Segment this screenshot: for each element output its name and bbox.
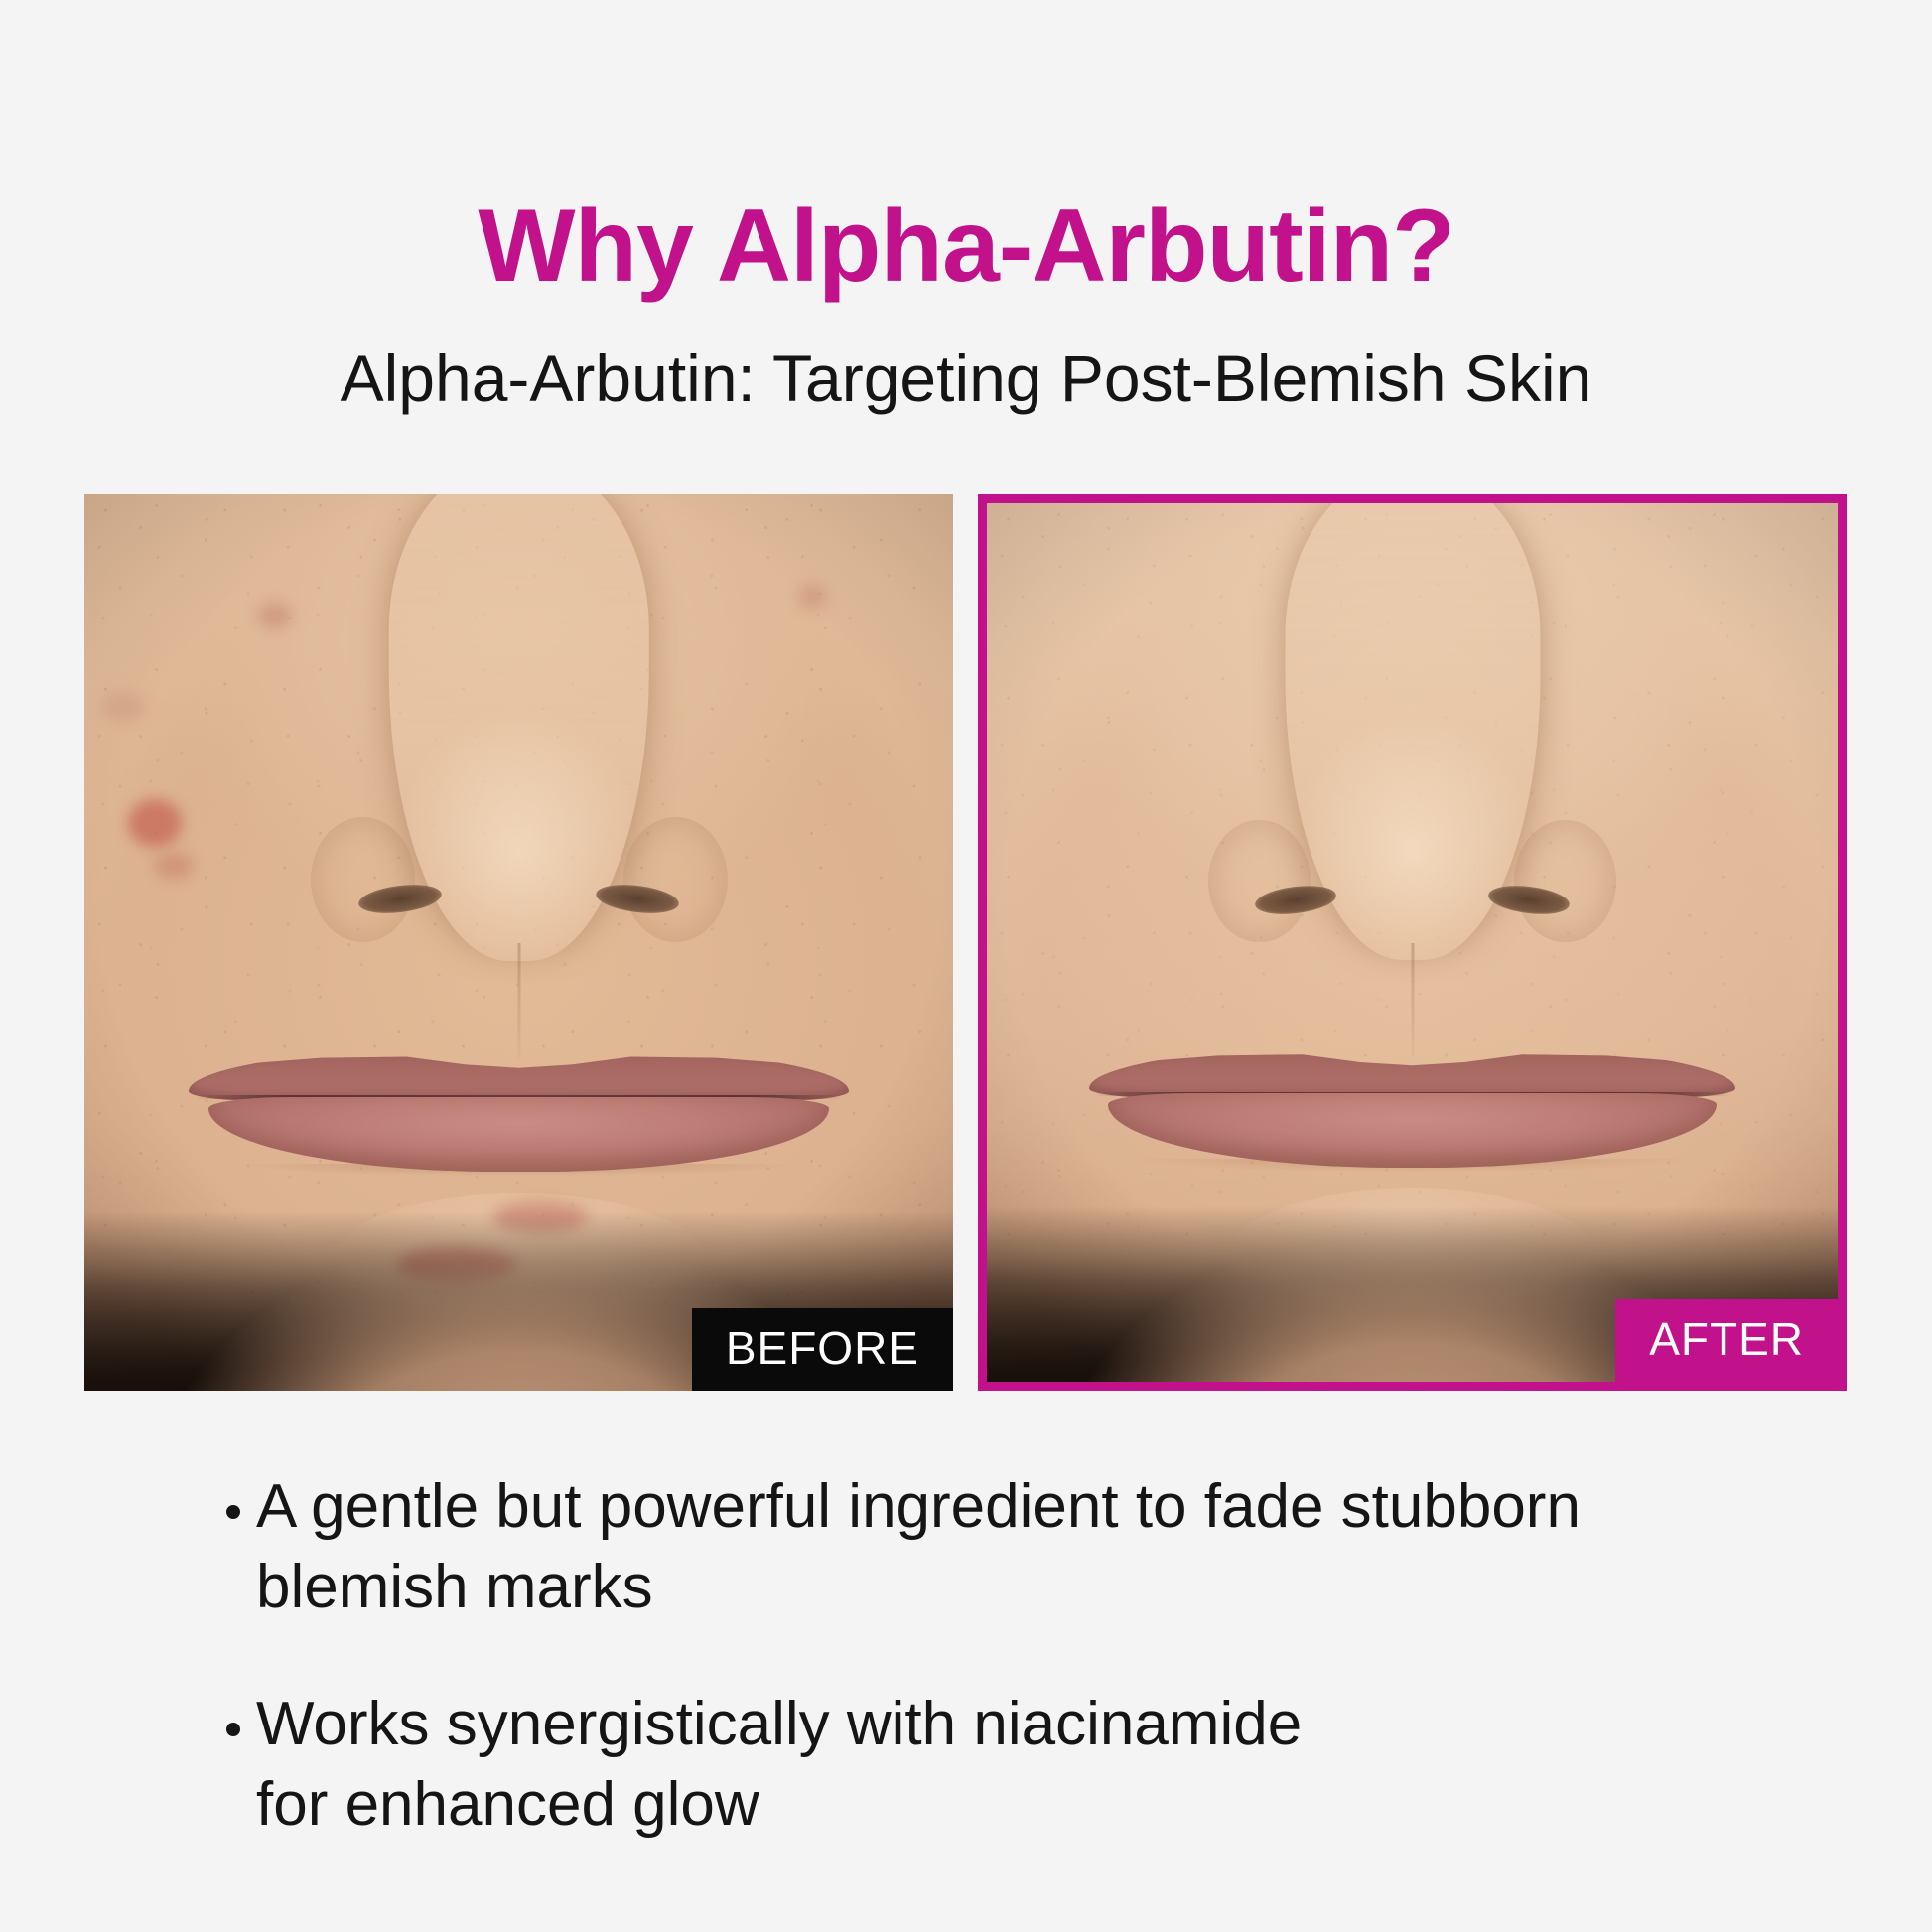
- page-subtitle: Alpha-Arbutin: Targeting Post-Blemish Sk…: [0, 343, 1932, 415]
- nose-ala-left: [1208, 820, 1311, 943]
- after-image-panel: AFTER: [978, 494, 1847, 1391]
- blemish-mark: [102, 692, 146, 722]
- lips: [189, 1045, 849, 1167]
- lip-shadow: [1128, 1159, 1697, 1173]
- nose-ala-right: [623, 817, 728, 942]
- list-item: A gentle but powerful ingredient to fade…: [226, 1467, 1775, 1627]
- lower-lip: [208, 1097, 829, 1173]
- benefit-text: Works synergistically with niacinamide f…: [256, 1685, 1302, 1845]
- lips: [1089, 1043, 1735, 1162]
- before-image-panel: BEFORE: [84, 494, 953, 1391]
- before-photo: [84, 494, 953, 1391]
- nose-ala-left: [311, 817, 415, 942]
- benefits-list: A gentle but powerful ingredient to fade…: [226, 1467, 1775, 1902]
- after-photo: [987, 503, 1838, 1382]
- promo-page: Why Alpha-Arbutin? Alpha-Arbutin: Target…: [0, 0, 1932, 1932]
- upper-lip: [189, 1045, 849, 1101]
- after-label: AFTER: [1615, 1299, 1838, 1382]
- before-label: BEFORE: [692, 1308, 953, 1391]
- page-title: Why Alpha-Arbutin?: [0, 193, 1932, 301]
- lower-lip: [1108, 1093, 1716, 1167]
- blemish-mark: [154, 853, 194, 879]
- bullet-dot-icon: [226, 1505, 240, 1519]
- blemish-mark: [797, 584, 827, 610]
- blemish-mark: [128, 799, 182, 847]
- lip-shadow: [228, 1164, 809, 1178]
- philtrum: [517, 943, 520, 1059]
- before-after-comparison: BEFORE: [84, 494, 1848, 1391]
- list-item: Works synergistically with niacinamide f…: [226, 1685, 1775, 1845]
- benefit-text: A gentle but powerful ingredient to fade…: [256, 1467, 1581, 1627]
- nose-ala-right: [1514, 820, 1616, 943]
- bullet-dot-icon: [226, 1723, 240, 1736]
- upper-lip: [1089, 1043, 1735, 1098]
- philtrum: [1411, 943, 1414, 1057]
